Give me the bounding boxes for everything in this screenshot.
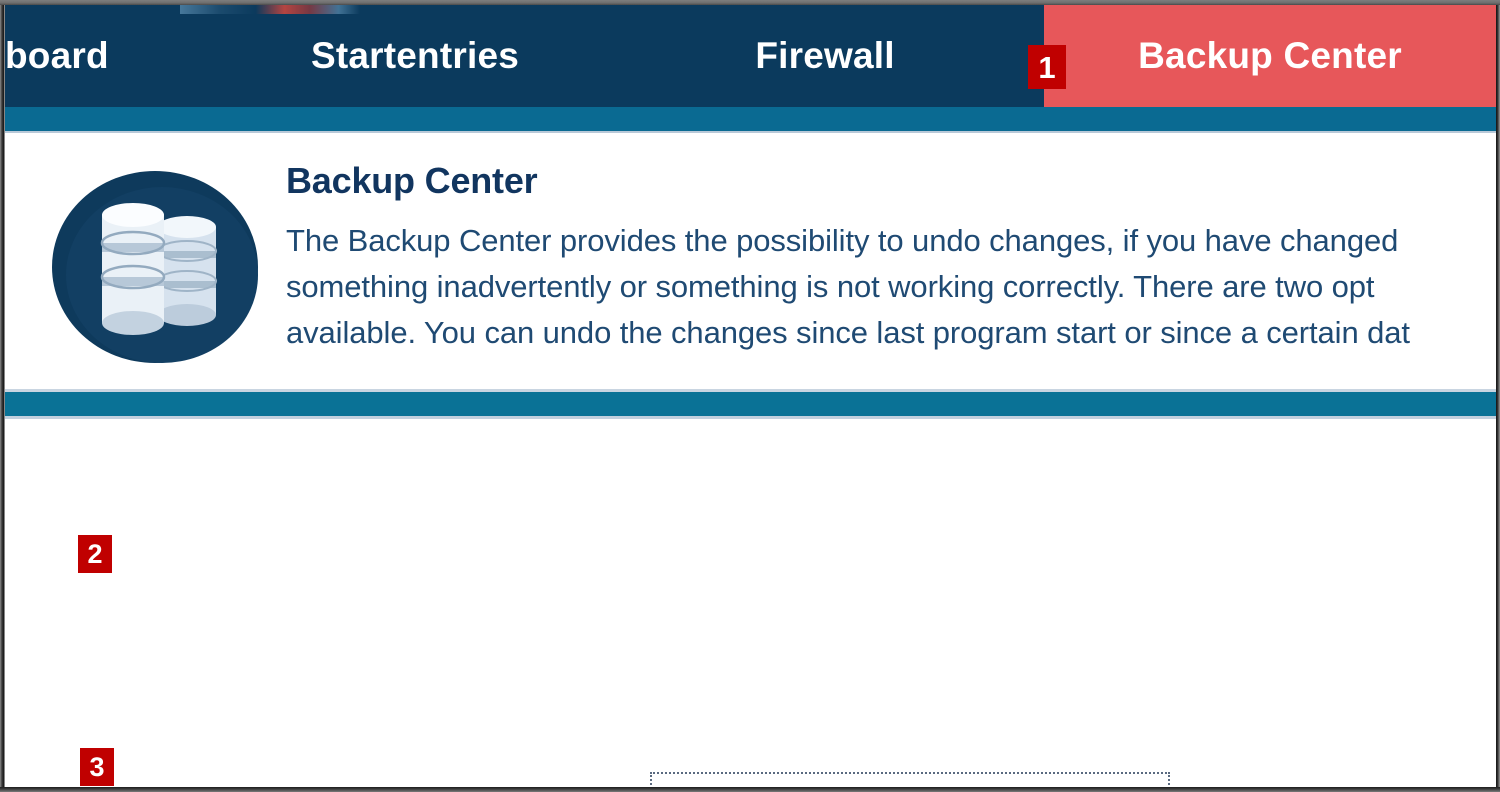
nav-tab-firewall[interactable]: Firewall: [665, 5, 985, 107]
nav-tab-backup-center[interactable]: Backup Center: [1044, 5, 1496, 107]
window-frame-top: [0, 0, 1500, 5]
callout-badge-2: 2: [78, 535, 112, 573]
nav-tab-dashboard-label: board: [5, 35, 109, 77]
nav-tab-dashboard[interactable]: board: [5, 5, 105, 107]
callout-badge-1: 1: [1028, 45, 1066, 89]
callout-badge-3: 3: [80, 748, 114, 786]
nav-tab-firewall-label: Firewall: [755, 35, 894, 77]
window-frame-left: [0, 0, 5, 792]
backup-center-header-panel: Backup Center The Backup Center provides…: [5, 133, 1496, 389]
page-description-line-2: something inadvertently or something is …: [286, 264, 1500, 310]
window-frame-bottom: [0, 787, 1500, 792]
teal-divider-top: [5, 107, 1496, 131]
divider-hairline-top: [5, 131, 1496, 133]
header-text-block: Backup Center The Backup Center provides…: [286, 159, 1500, 356]
window-frame-right: [1496, 0, 1500, 792]
nav-tab-backup-center-label: Backup Center: [1138, 35, 1402, 77]
page-description-line-3: available. You can undo the changes sinc…: [286, 310, 1500, 356]
divider-hairline-mid-bottom: [5, 416, 1496, 419]
nav-tab-startentries[interactable]: Startentries: [245, 5, 585, 107]
database-stack-icon: [50, 169, 260, 365]
backup-options-panel: [5, 419, 1496, 787]
application-window: board Startentries Firewall Backup Cente…: [0, 0, 1500, 792]
page-description: The Backup Center provides the possibili…: [286, 218, 1500, 356]
page-title: Backup Center: [286, 159, 1500, 203]
callout-badge-2-label: 2: [87, 541, 102, 568]
page-description-line-1: The Backup Center provides the possibili…: [286, 218, 1500, 264]
nav-items-container: board Startentries Firewall Backup Cente…: [5, 5, 1496, 107]
teal-divider-mid: [5, 392, 1496, 416]
nav-tab-startentries-label: Startentries: [311, 35, 519, 77]
nav-top-artifact: [180, 5, 360, 14]
top-navigation-bar: board Startentries Firewall Backup Cente…: [5, 5, 1496, 107]
callout-badge-3-label: 3: [89, 754, 104, 781]
callout-badge-1-label: 1: [1038, 52, 1055, 83]
